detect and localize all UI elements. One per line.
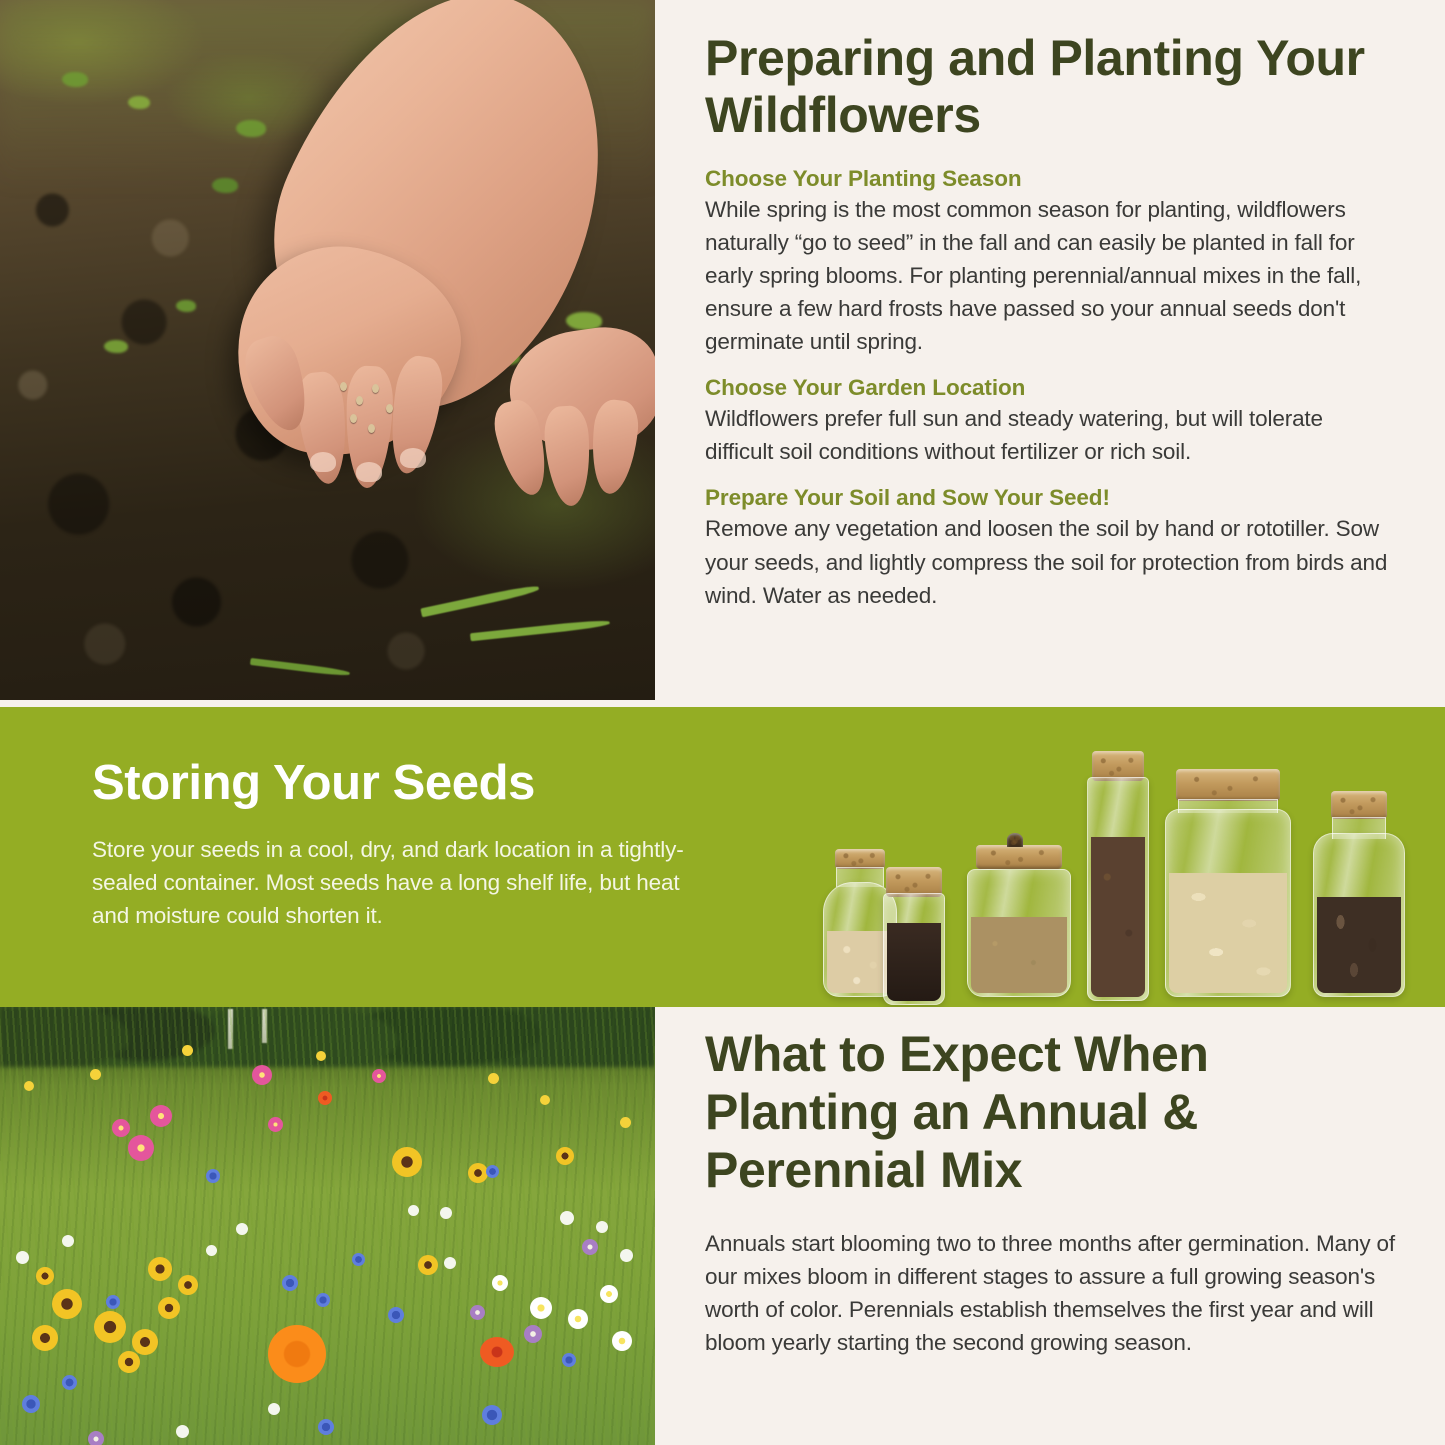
subheading-garden-location: Choose Your Garden Location xyxy=(705,375,1395,401)
jar-contents-pumpkin-seeds xyxy=(1169,873,1287,993)
subheading-planting-season: Choose Your Planting Season xyxy=(705,166,1395,192)
seed xyxy=(372,384,379,393)
flower-purple xyxy=(524,1325,542,1343)
flower-cornflower xyxy=(316,1293,330,1307)
flower-cosmos xyxy=(128,1135,154,1161)
flower-white xyxy=(62,1235,74,1247)
jar-glass xyxy=(1165,809,1291,997)
flower-coreopsis xyxy=(118,1351,140,1373)
flower-cornflower xyxy=(482,1405,502,1425)
flower-daisy xyxy=(612,1331,632,1351)
flower-poppy xyxy=(318,1091,332,1105)
photo-hand-sowing-seeds xyxy=(0,0,655,700)
flower-white xyxy=(560,1211,574,1225)
cork-lid-icon xyxy=(1176,769,1280,801)
content-block-garden-location: Choose Your Garden Location Wildflowers … xyxy=(705,375,1395,468)
jar-glass xyxy=(883,893,945,1005)
jar-contents-sunflower-seeds xyxy=(1317,897,1401,993)
jar-glass xyxy=(1087,777,1149,1001)
flower-daisy xyxy=(492,1275,508,1291)
flower-cornflower xyxy=(106,1295,120,1309)
section-preparing-and-planting: Preparing and Planting Your Wildflowers … xyxy=(0,0,1445,707)
fingernail xyxy=(310,452,336,472)
flower-cosmos xyxy=(252,1065,272,1085)
flower-cosmos xyxy=(112,1119,130,1137)
flower-white xyxy=(206,1245,217,1256)
top-text-column: Preparing and Planting Your Wildflowers … xyxy=(705,0,1395,707)
flower-cornflower xyxy=(318,1419,334,1435)
flower-coreopsis xyxy=(392,1147,422,1177)
flower-cosmos xyxy=(372,1069,386,1083)
flower-white xyxy=(176,1425,189,1438)
page-title: Preparing and Planting Your Wildflowers xyxy=(705,30,1395,144)
bottom-text-column: What to Expect When Planting an Annual &… xyxy=(705,1007,1405,1445)
jar-sunflower-seeds xyxy=(1313,791,1405,997)
jar-glass xyxy=(967,869,1071,997)
flower-coreopsis xyxy=(36,1267,54,1285)
flower-cosmos xyxy=(268,1117,283,1132)
jar-glass xyxy=(1313,833,1405,997)
flower-coreopsis xyxy=(52,1289,82,1319)
green-text-column: Storing Your Seeds Store your seeds in a… xyxy=(92,755,722,932)
flower-purple xyxy=(88,1431,104,1445)
flower-white xyxy=(268,1403,280,1415)
content-block-prepare-soil: Prepare Your Soil and Sow Your Seed! Rem… xyxy=(705,485,1395,611)
flower-cornflower xyxy=(352,1253,365,1266)
what-to-expect-title: What to Expect When Planting an Annual &… xyxy=(705,1025,1405,1199)
flower-white xyxy=(236,1223,248,1235)
flower-white xyxy=(16,1251,29,1264)
flower-cornflower xyxy=(62,1375,77,1390)
flower-white xyxy=(596,1221,608,1233)
sprout-icon xyxy=(104,340,128,353)
seed xyxy=(368,424,375,433)
flower-purple xyxy=(582,1239,598,1255)
seed xyxy=(350,414,357,423)
sprout-icon xyxy=(62,72,88,87)
flower-coreopsis xyxy=(556,1147,574,1165)
jar-contents-spice-seeds xyxy=(1091,837,1145,997)
flower-cornflower xyxy=(206,1169,220,1183)
flower-coreopsis xyxy=(132,1329,158,1355)
flower-white xyxy=(444,1257,456,1269)
flower-small-yellow xyxy=(488,1073,499,1084)
flower-white xyxy=(620,1249,633,1262)
body-planting-season: While spring is the most common season f… xyxy=(705,193,1395,358)
section-storing-your-seeds: Storing Your Seeds Store your seeds in a… xyxy=(0,707,1445,1007)
sprout-icon xyxy=(128,96,150,109)
cork-lid-icon xyxy=(976,845,1062,869)
body-garden-location: Wildflowers prefer full sun and steady w… xyxy=(705,402,1395,468)
storing-seeds-body: Store your seeds in a cool, dry, and dar… xyxy=(92,833,722,932)
flower-daisy xyxy=(530,1297,552,1319)
flower-cornflower xyxy=(388,1307,404,1323)
photo-wildflower-meadow xyxy=(0,1007,655,1445)
flower-small-yellow xyxy=(24,1081,34,1091)
flower-coreopsis xyxy=(158,1297,180,1319)
cork-lid-icon xyxy=(1331,791,1387,819)
flower-small-yellow xyxy=(90,1069,101,1080)
fingernail xyxy=(400,448,426,468)
sprout-icon xyxy=(236,120,266,137)
flower-cosmos xyxy=(150,1105,172,1127)
flower-purple xyxy=(470,1305,485,1320)
subheading-prepare-soil: Prepare Your Soil and Sow Your Seed! xyxy=(705,485,1395,511)
cork-lid-knob xyxy=(1007,833,1023,847)
flower-coreopsis xyxy=(468,1163,488,1183)
jar-tall-spice-tube xyxy=(1087,751,1149,1001)
flower-coreopsis xyxy=(32,1325,58,1351)
body-prepare-soil: Remove any vegetation and loosen the soi… xyxy=(705,512,1395,611)
flower-white xyxy=(408,1205,419,1216)
jar-large-pumpkin-seeds xyxy=(1165,769,1291,997)
flower-small-yellow xyxy=(620,1117,631,1128)
infographic-page: Preparing and Planting Your Wildflowers … xyxy=(0,0,1445,1445)
what-to-expect-body: Annuals start blooming two to three mont… xyxy=(705,1227,1405,1359)
content-block-planting-season: Choose Your Planting Season While spring… xyxy=(705,166,1395,358)
flower-cornflower xyxy=(22,1395,40,1413)
jar-black-seeds xyxy=(883,867,945,1005)
jar-contents-brown-grain xyxy=(971,917,1067,993)
jar-contents-black-seeds xyxy=(887,923,941,1001)
storing-seeds-title: Storing Your Seeds xyxy=(92,755,722,811)
seed xyxy=(340,382,347,391)
flower-coreopsis xyxy=(178,1275,198,1295)
sprout-icon xyxy=(176,300,196,312)
flower-small-yellow xyxy=(316,1051,326,1061)
sprout-icon xyxy=(212,178,238,193)
flower-cornflower xyxy=(486,1165,499,1178)
cork-lid-icon xyxy=(835,849,885,869)
fingernail xyxy=(356,462,382,482)
flower-coreopsis xyxy=(148,1257,172,1281)
flower-cornflower xyxy=(562,1353,576,1367)
photo-seed-jars xyxy=(815,727,1435,1007)
flower-white xyxy=(440,1207,452,1219)
flower-poppy xyxy=(480,1337,514,1367)
flower-daisy xyxy=(568,1309,588,1329)
jar-brown-grain xyxy=(967,839,1071,997)
flower-cornflower xyxy=(282,1275,298,1291)
seed xyxy=(356,396,363,405)
section-what-to-expect: What to Expect When Planting an Annual &… xyxy=(0,1007,1445,1445)
flower-coreopsis xyxy=(418,1255,438,1275)
flower-small-yellow xyxy=(540,1095,550,1105)
seed xyxy=(386,404,393,413)
flower-daisy xyxy=(600,1285,618,1303)
flower-small-yellow xyxy=(182,1045,193,1056)
flower-coreopsis xyxy=(94,1311,126,1343)
flower-california-poppy xyxy=(268,1325,326,1383)
